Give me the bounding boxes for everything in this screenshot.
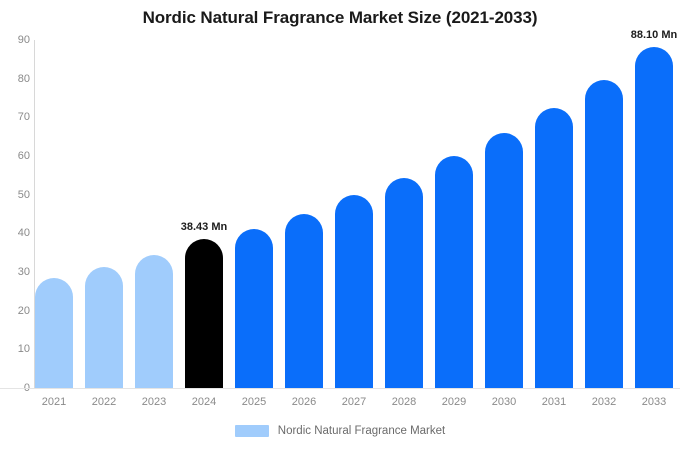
x-axis-tick-label: 2021: [35, 396, 73, 408]
legend-swatch-icon: [235, 425, 269, 437]
x-axis-tick-label: 2030: [485, 396, 523, 408]
x-axis-line: [0, 388, 680, 389]
bar-2028[interactable]: [385, 178, 423, 388]
y-axis-tick-label: 60: [4, 150, 30, 162]
chart-legend: Nordic Natural Fragrance Market: [0, 425, 680, 437]
bar-2031[interactable]: [535, 108, 573, 388]
bar-2026[interactable]: [285, 214, 323, 388]
x-axis-tick-label: 2031: [535, 396, 573, 408]
y-axis-ticks: 0102030405060708090: [0, 0, 30, 450]
bar-2024[interactable]: [185, 239, 223, 388]
y-axis-tick-label: 30: [4, 266, 30, 278]
x-axis-tick-label: 2028: [385, 396, 423, 408]
bar-value-label: 88.10 Mn: [631, 29, 677, 41]
bar-2025[interactable]: [235, 229, 273, 388]
y-axis-tick-label: 40: [4, 227, 30, 239]
bar-value-label: 38.43 Mn: [181, 221, 227, 233]
x-axis-tick-label: 2023: [135, 396, 173, 408]
bar-group[interactable]: 38.43 Mn: [185, 40, 223, 388]
bar-group[interactable]: 88.10 Mn: [635, 40, 673, 388]
chart-title: Nordic Natural Fragrance Market Size (20…: [0, 8, 680, 28]
plot-area: 38.43 Mn88.10 Mn: [35, 40, 680, 388]
bar-group[interactable]: [285, 40, 323, 388]
bar-group[interactable]: [35, 40, 73, 388]
bar-chart: Nordic Natural Fragrance Market Size (20…: [0, 0, 680, 450]
bar-2032[interactable]: [585, 80, 623, 388]
bar-2022[interactable]: [85, 267, 123, 388]
x-axis-tick-label: 2026: [285, 396, 323, 408]
x-axis-tick-label: 2033: [635, 396, 673, 408]
bar-group[interactable]: [485, 40, 523, 388]
x-axis-tick-label: 2032: [585, 396, 623, 408]
y-axis-tick-label: 20: [4, 305, 30, 317]
y-axis-tick-label: 80: [4, 73, 30, 85]
y-axis-tick-label: 90: [4, 34, 30, 46]
x-axis-tick-label: 2027: [335, 396, 373, 408]
bar-group[interactable]: [435, 40, 473, 388]
bar-group[interactable]: [135, 40, 173, 388]
bar-group[interactable]: [535, 40, 573, 388]
bar-group[interactable]: [335, 40, 373, 388]
bar-2023[interactable]: [135, 255, 173, 388]
x-axis-tick-label: 2029: [435, 396, 473, 408]
bar-2027[interactable]: [335, 195, 373, 388]
bar-group[interactable]: [85, 40, 123, 388]
bar-2021[interactable]: [35, 278, 73, 388]
bar-group[interactable]: [235, 40, 273, 388]
x-axis-tick-label: 2022: [85, 396, 123, 408]
bar-2030[interactable]: [485, 133, 523, 388]
y-axis-tick-label: 50: [4, 189, 30, 201]
legend-label: Nordic Natural Fragrance Market: [278, 425, 445, 437]
x-axis-tick-label: 2025: [235, 396, 273, 408]
bar-2029[interactable]: [435, 156, 473, 388]
y-axis-tick-label: 70: [4, 111, 30, 123]
y-axis-tick-label: 10: [4, 343, 30, 355]
bar-2033[interactable]: [635, 47, 673, 388]
x-axis-tick-label: 2024: [185, 396, 223, 408]
bar-group[interactable]: [385, 40, 423, 388]
bar-group[interactable]: [585, 40, 623, 388]
